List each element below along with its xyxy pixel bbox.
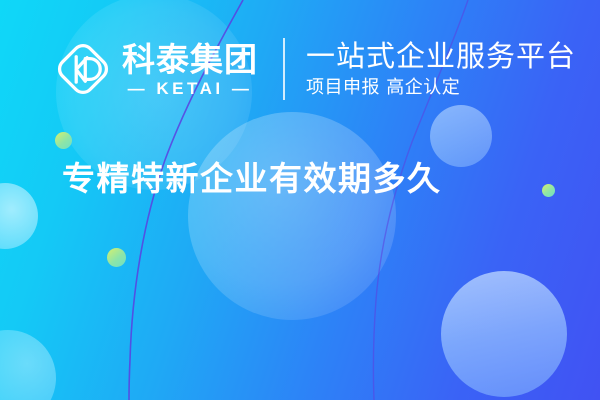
page-title: 专精特新企业有效期多久: [62, 158, 442, 200]
brand-name-cn: 科泰集团: [122, 42, 258, 78]
circle-bottom-left: [0, 330, 56, 400]
tagline-primary: 一站式企业服务平台: [306, 39, 576, 73]
header-divider: [283, 38, 285, 100]
tagline-group: 一站式企业服务平台 项目申报 高企认定: [306, 39, 576, 99]
halo-center: [188, 112, 396, 320]
green-dot-lower-left: [107, 248, 126, 267]
promo-banner: 科泰集团 — KETAI — 一站式企业服务平台 项目申报 高企认定 专精特新企…: [0, 0, 600, 400]
ketai-kd-monogram-icon: [54, 40, 112, 98]
circle-left-edge: [0, 183, 38, 249]
green-dot-upper-left: [55, 132, 72, 149]
brand-header: 科泰集团 — KETAI — 一站式企业服务平台 项目申报 高企认定: [54, 38, 576, 100]
green-dot-right: [542, 184, 555, 197]
tagline-secondary: 项目申报 高企认定: [306, 77, 576, 99]
brand-wordmark: 科泰集团 — KETAI —: [122, 42, 258, 98]
brand-name-en: — KETAI —: [122, 79, 258, 98]
circle-bottom-right: [441, 271, 567, 397]
